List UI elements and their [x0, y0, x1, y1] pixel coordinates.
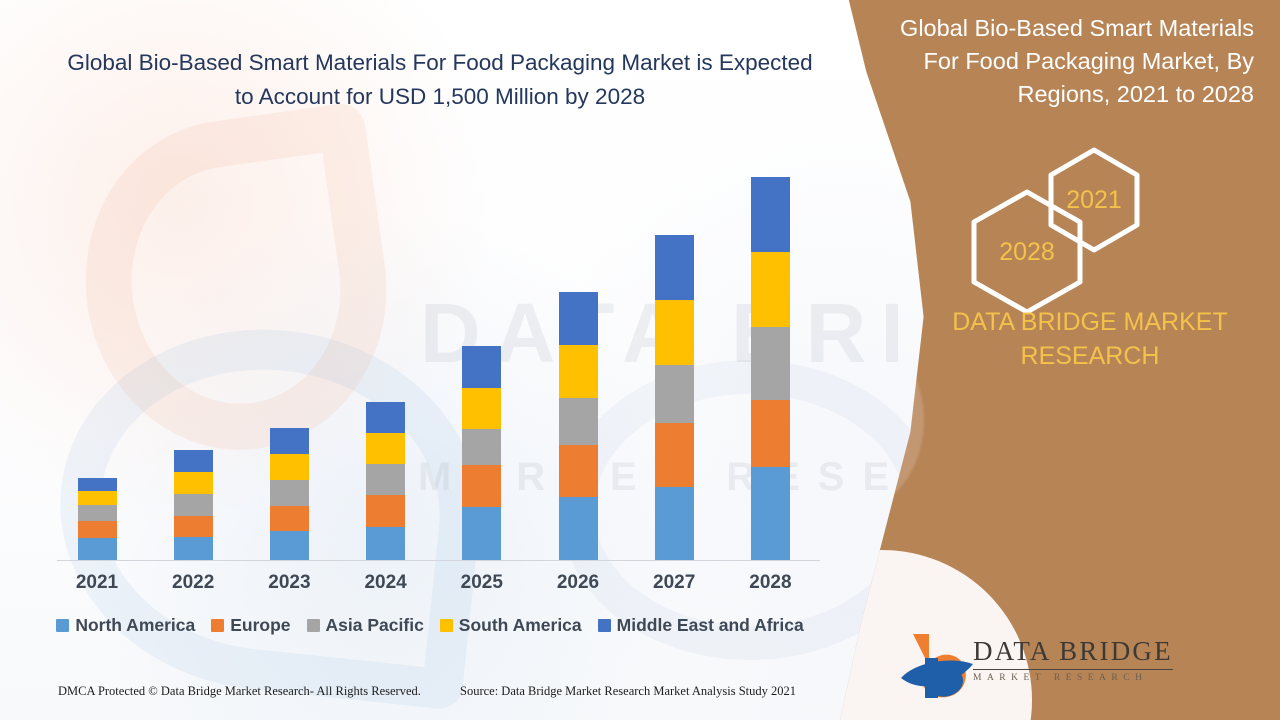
- bar-segment: [270, 480, 309, 506]
- bar-segment: [462, 429, 501, 465]
- bar-segment: [462, 388, 501, 429]
- data-bridge-logo: DATA BRIDGE MARKET RESEARCH: [895, 628, 1235, 704]
- hexagon-2021-label: 2021: [1066, 186, 1122, 215]
- legend-label: Asia Pacific: [326, 615, 424, 636]
- bar-segment: [270, 454, 309, 480]
- x-axis-line: [57, 560, 820, 561]
- legend-item[interactable]: South America: [440, 615, 582, 636]
- bar-segment: [751, 252, 790, 327]
- legend-swatch-icon: [307, 619, 320, 632]
- bar-column-2026: [559, 292, 598, 560]
- bar-segment: [462, 346, 501, 388]
- bar-segment: [270, 531, 309, 560]
- bar-segment: [366, 527, 405, 560]
- x-axis-label-2024: 2024: [346, 572, 426, 594]
- bar-segment: [559, 398, 598, 445]
- legend-item[interactable]: Middle East and Africa: [598, 615, 804, 636]
- x-axis-label-2025: 2025: [442, 572, 522, 594]
- bar-segment: [559, 497, 598, 560]
- bar-segment: [751, 467, 790, 560]
- bar-segment: [366, 495, 405, 527]
- bar-column-2021: [78, 478, 117, 560]
- bar-segment: [174, 494, 213, 516]
- bar-column-2024: [366, 402, 405, 560]
- legend-swatch-icon: [598, 619, 611, 632]
- source-notice: Source: Data Bridge Market Research Mark…: [460, 684, 796, 699]
- bar-segment: [751, 327, 790, 400]
- bar-segment: [559, 445, 598, 497]
- x-axis-label-2021: 2021: [57, 572, 137, 594]
- bar-segment: [655, 487, 694, 560]
- legend-item[interactable]: North America: [56, 615, 195, 636]
- infographic-canvas: DATA BRIDGE MARKET RESEARCH Global Bio-B…: [0, 0, 1280, 720]
- bar-column-2028: [751, 177, 790, 560]
- x-axis-label-2022: 2022: [153, 572, 233, 594]
- x-axis-label-2027: 2027: [634, 572, 714, 594]
- bar-segment: [462, 465, 501, 507]
- legend-swatch-icon: [440, 619, 453, 632]
- bar-segment: [174, 516, 213, 537]
- bar-column-2023: [270, 428, 309, 560]
- bar-segment: [78, 521, 117, 538]
- chart-plot-area: 20212022202320242025202620272028: [0, 0, 860, 720]
- legend-swatch-icon: [211, 619, 224, 632]
- bar-segment: [655, 365, 694, 423]
- bar-segment: [751, 177, 790, 252]
- bar-segment: [270, 428, 309, 454]
- bar-segment: [655, 423, 694, 487]
- bar-segment: [174, 472, 213, 494]
- bar-segment: [366, 402, 405, 433]
- bar-column-2027: [655, 235, 694, 560]
- copyright-notice: DMCA Protected © Data Bridge Market Rese…: [58, 684, 421, 699]
- x-axis-label-2023: 2023: [249, 572, 329, 594]
- bar-segment: [655, 235, 694, 300]
- bar-segment: [174, 450, 213, 472]
- bar-segment: [78, 505, 117, 521]
- logo-subtitle: MARKET RESEARCH: [973, 673, 1173, 683]
- legend-item[interactable]: Asia Pacific: [307, 615, 424, 636]
- bar-segment: [559, 345, 598, 398]
- chart-legend: North AmericaEuropeAsia PacificSouth Ame…: [0, 615, 860, 636]
- x-axis-label-2028: 2028: [730, 572, 810, 594]
- bar-segment: [751, 400, 790, 467]
- bar-column-2025: [462, 346, 501, 560]
- bar-segment: [78, 491, 117, 505]
- bar-segment: [655, 300, 694, 365]
- legend-label: North America: [75, 615, 195, 636]
- bar-segment: [270, 506, 309, 531]
- bar-segment: [78, 538, 117, 560]
- logo-title: DATA BRIDGE: [973, 636, 1173, 670]
- bar-segment: [78, 478, 117, 491]
- legend-swatch-icon: [56, 619, 69, 632]
- legend-label: Middle East and Africa: [617, 615, 804, 636]
- bar-segment: [366, 433, 405, 464]
- bar-segment: [462, 507, 501, 560]
- legend-label: South America: [459, 615, 582, 636]
- logo-wordmark: DATA BRIDGE MARKET RESEARCH: [973, 636, 1173, 683]
- x-axis-label-2026: 2026: [538, 572, 618, 594]
- bar-column-2022: [174, 450, 213, 560]
- bar-segment: [366, 464, 405, 495]
- hexagon-2028-label: 2028: [999, 238, 1055, 267]
- bar-segment: [174, 537, 213, 560]
- legend-label: Europe: [230, 615, 290, 636]
- panel-heading: Global Bio-Based Smart Materials For Foo…: [864, 12, 1254, 111]
- legend-item[interactable]: Europe: [211, 615, 290, 636]
- bar-segment: [559, 292, 598, 345]
